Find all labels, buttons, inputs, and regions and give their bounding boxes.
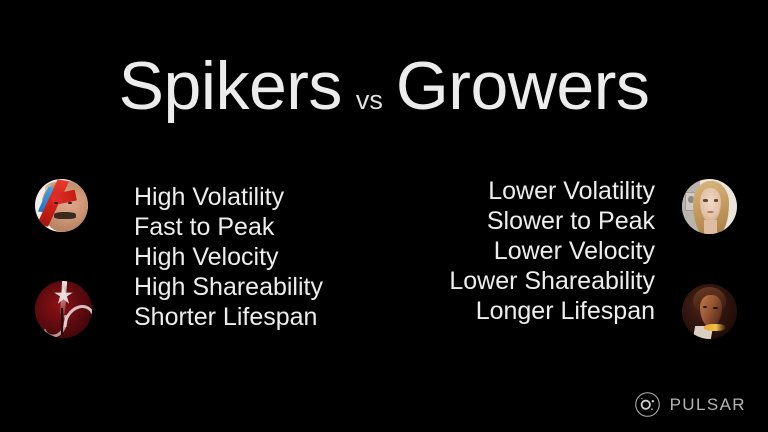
list-item: High Velocity xyxy=(134,242,323,272)
list-item: Fast to Peak xyxy=(134,212,323,242)
spikers-avatar-1-image xyxy=(35,179,88,232)
list-item: Shorter Lifespan xyxy=(134,302,323,332)
title-word-growers: Growers xyxy=(396,52,649,120)
spikers-attribute-list: High Volatility Fast to Peak High Veloci… xyxy=(134,182,323,332)
list-item: Slower to Peak xyxy=(449,206,655,236)
list-item: Lower Velocity xyxy=(449,236,655,266)
list-item: High Volatility xyxy=(134,182,323,212)
slide-canvas: Spikers vs Growers High Volatility Fast … xyxy=(0,0,768,432)
avatar xyxy=(682,179,737,234)
growers-attribute-list: Lower Volatility Slower to Peak Lower Ve… xyxy=(449,176,655,326)
pulsar-logo-text: PULSAR xyxy=(670,396,746,413)
avatar xyxy=(35,281,92,338)
avatar xyxy=(682,284,737,339)
title-word-spikers: Spikers xyxy=(119,52,342,120)
growers-avatar-1-image xyxy=(682,179,737,234)
page-title: Spikers vs Growers xyxy=(0,52,768,120)
avatar xyxy=(35,179,88,232)
list-item: Lower Volatility xyxy=(449,176,655,206)
list-item: High Shareability xyxy=(134,272,323,302)
spikers-avatar-2-image xyxy=(35,281,92,338)
pulsar-ring-icon xyxy=(634,391,661,418)
title-connector-vs: vs xyxy=(356,87,383,114)
pulsar-logo: PULSAR xyxy=(634,391,746,418)
growers-avatar-2-image xyxy=(682,284,737,339)
list-item: Longer Lifespan xyxy=(449,296,655,326)
list-item: Lower Shareability xyxy=(449,266,655,296)
